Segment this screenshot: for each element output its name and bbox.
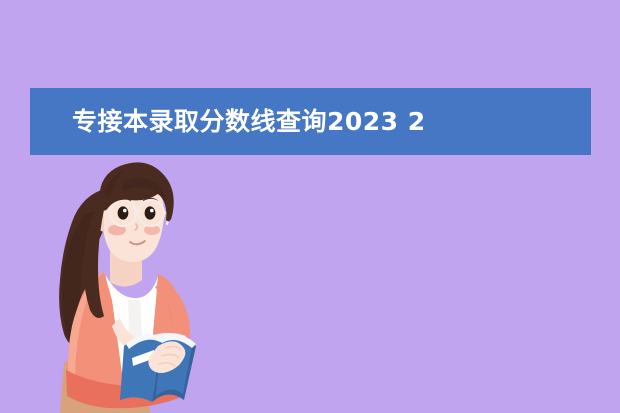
reading-woman-illustration xyxy=(0,150,310,413)
page-title: 专接本录取分数线查询2023 2 xyxy=(30,109,426,134)
title-banner: 专接本录取分数线查询2023 2 xyxy=(30,88,591,155)
article-thumbnail-card: 专接本录取分数线查询2023 2 xyxy=(0,0,620,413)
